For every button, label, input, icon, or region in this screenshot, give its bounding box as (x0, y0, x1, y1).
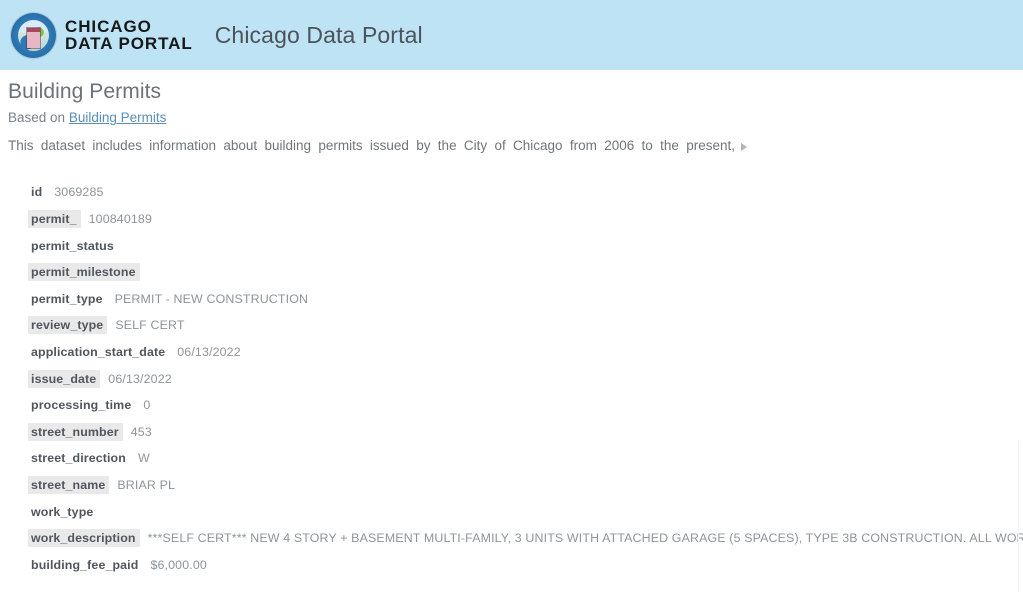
field-key: processing_time (28, 396, 135, 414)
field-value: 453 (131, 425, 152, 439)
field-value: 06/13/2022 (108, 372, 172, 386)
record-field-list: id3069285permit_100840189permit_statuspe… (0, 179, 1023, 578)
field-key: permit_milestone (28, 263, 140, 281)
based-on-line: Based on Building Permits (8, 108, 1023, 128)
field-value: W (138, 451, 150, 465)
brand-wordmark: CHICAGO DATA PORTAL (65, 18, 193, 53)
dataset-description-row: This dataset includes information about … (8, 136, 1023, 156)
brand-logo-link[interactable]: CHICAGO DATA PORTAL (11, 13, 193, 58)
field-row: processing_time0 (31, 392, 1023, 419)
field-key: work_type (28, 503, 97, 521)
field-row: street_directionW (31, 445, 1023, 472)
based-on-label: Based on (8, 110, 65, 125)
field-key: work_description (28, 529, 140, 547)
field-value: 100840189 (89, 212, 152, 226)
field-value: PERMIT - NEW CONSTRUCTION (115, 292, 308, 306)
field-value: $6,000.00 (150, 558, 206, 572)
field-key: application_start_date (28, 343, 169, 361)
brand-wordmark-line1: CHICAGO (65, 18, 193, 35)
field-key: issue_date (28, 370, 100, 388)
field-value: SELF CERT (115, 318, 184, 332)
field-key: review_type (28, 316, 107, 334)
field-row: permit_typePERMIT - NEW CONSTRUCTION (31, 286, 1023, 313)
field-key: permit_status (28, 237, 118, 255)
field-row: id3069285 (31, 179, 1023, 206)
field-key: permit_type (28, 290, 107, 308)
field-row: permit_status (31, 232, 1023, 259)
field-row: street_number453 (31, 419, 1023, 446)
field-row: permit_milestone (31, 259, 1023, 286)
field-value: BRIAR PL (117, 478, 175, 492)
field-row: work_type (31, 498, 1023, 525)
field-row: work_description***SELF CERT*** NEW 4 ST… (31, 525, 1023, 552)
based-on-dataset-link[interactable]: Building Permits (69, 110, 167, 125)
field-row: street_nameBRIAR PL (31, 472, 1023, 499)
field-row: permit_100840189 (31, 206, 1023, 233)
header-title: Chicago Data Portal (215, 22, 423, 49)
field-key: street_name (28, 476, 109, 494)
site-header: CHICAGO DATA PORTAL Chicago Data Portal (0, 0, 1023, 70)
field-value: 06/13/2022 (177, 345, 241, 359)
dataset-description: This dataset includes information about … (8, 136, 735, 156)
field-key: street_number (28, 423, 123, 441)
field-key: permit_ (28, 210, 81, 228)
chicago-city-seal-icon (11, 13, 56, 58)
field-row: application_start_date06/13/2022 (31, 339, 1023, 366)
field-value: 0 (143, 398, 150, 412)
field-key: id (28, 183, 46, 201)
right-edge-rule (1018, 442, 1019, 592)
page-title: Building Permits (8, 78, 1023, 106)
caret-right-icon[interactable] (741, 143, 747, 151)
field-row: issue_date06/13/2022 (31, 365, 1023, 392)
brand-wordmark-line2: DATA PORTAL (65, 35, 193, 52)
field-value: ***SELF CERT*** NEW 4 STORY + BASEMENT M… (148, 531, 1023, 545)
field-row: building_fee_paid$6,000.00 (31, 551, 1023, 578)
field-key: street_direction (28, 449, 130, 467)
field-key: building_fee_paid (28, 556, 142, 574)
field-value: 3069285 (54, 185, 103, 199)
field-row: review_typeSELF CERT (31, 312, 1023, 339)
page-intro: Building Permits Based on Building Permi… (0, 70, 1023, 156)
